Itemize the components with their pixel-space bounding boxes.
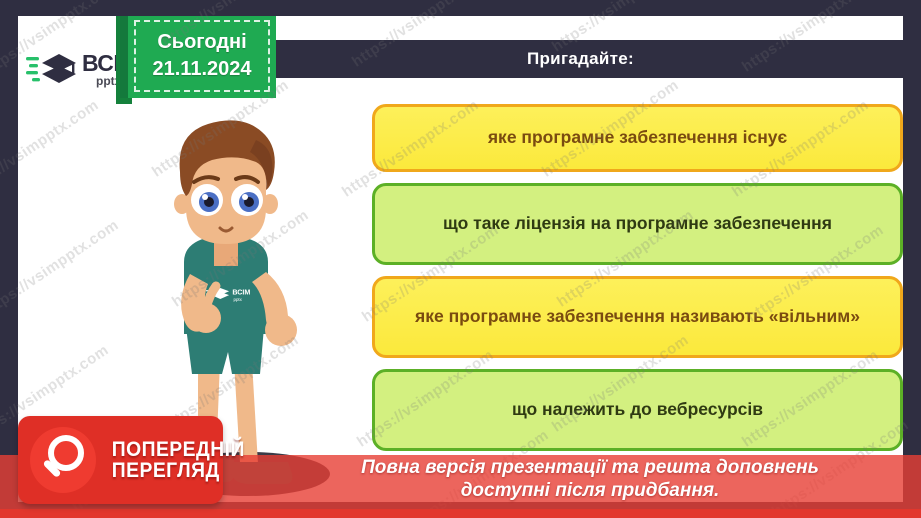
purchase-notice-line1: Повна версія презентації та решта доповн…: [270, 456, 910, 479]
date-tag: Сьогодні 21.11.2024: [128, 16, 276, 98]
question-text-2: що таке ліцензія на програмне забезпечен…: [443, 212, 832, 236]
question-text-3: яке програмне забезпечення називають «ві…: [415, 305, 860, 329]
question-text-1: яке програмне забезпечення існує: [488, 126, 787, 150]
slide-root: ВСІМ pptx: [0, 0, 921, 518]
preview-badge-label: ПОПЕРЕДНІЙ ПЕРЕГЛЯД: [112, 439, 245, 481]
preview-badge[interactable]: ПОПЕРЕДНІЙ ПЕРЕГЛЯД: [18, 416, 223, 504]
question-box-3[interactable]: яке програмне забезпечення називають «ві…: [372, 276, 903, 358]
question-box-1[interactable]: яке програмне забезпечення існує: [372, 104, 903, 172]
date-tag-label: Сьогодні: [157, 31, 246, 54]
notice-bar-edge: [0, 509, 921, 518]
question-text-4: що належить до вебресурсів: [512, 398, 763, 422]
magnifier-icon: [30, 427, 96, 493]
shirt-brand-text: ВСІМ: [232, 289, 250, 297]
page-title: Пригадайте:: [258, 40, 903, 78]
purchase-notice-line2: доступні після придбання.: [270, 479, 910, 502]
date-tag-value: 21.11.2024: [153, 58, 252, 81]
page-title-text: Пригадайте:: [527, 49, 634, 69]
preview-badge-line1: ПОПЕРЕДНІЙ: [112, 439, 245, 460]
purchase-notice-text: Повна версія презентації та решта доповн…: [270, 456, 910, 502]
question-box-4[interactable]: що належить до вебресурсів: [372, 369, 903, 451]
question-list: яке програмне забезпечення існує що таке…: [372, 104, 903, 462]
shirt-brand-suffix: pptx: [234, 297, 243, 302]
preview-badge-line2: ПЕРЕГЛЯД: [112, 460, 245, 481]
graduation-cap-icon: [26, 50, 78, 90]
question-box-2[interactable]: що таке ліцензія на програмне забезпечен…: [372, 183, 903, 265]
